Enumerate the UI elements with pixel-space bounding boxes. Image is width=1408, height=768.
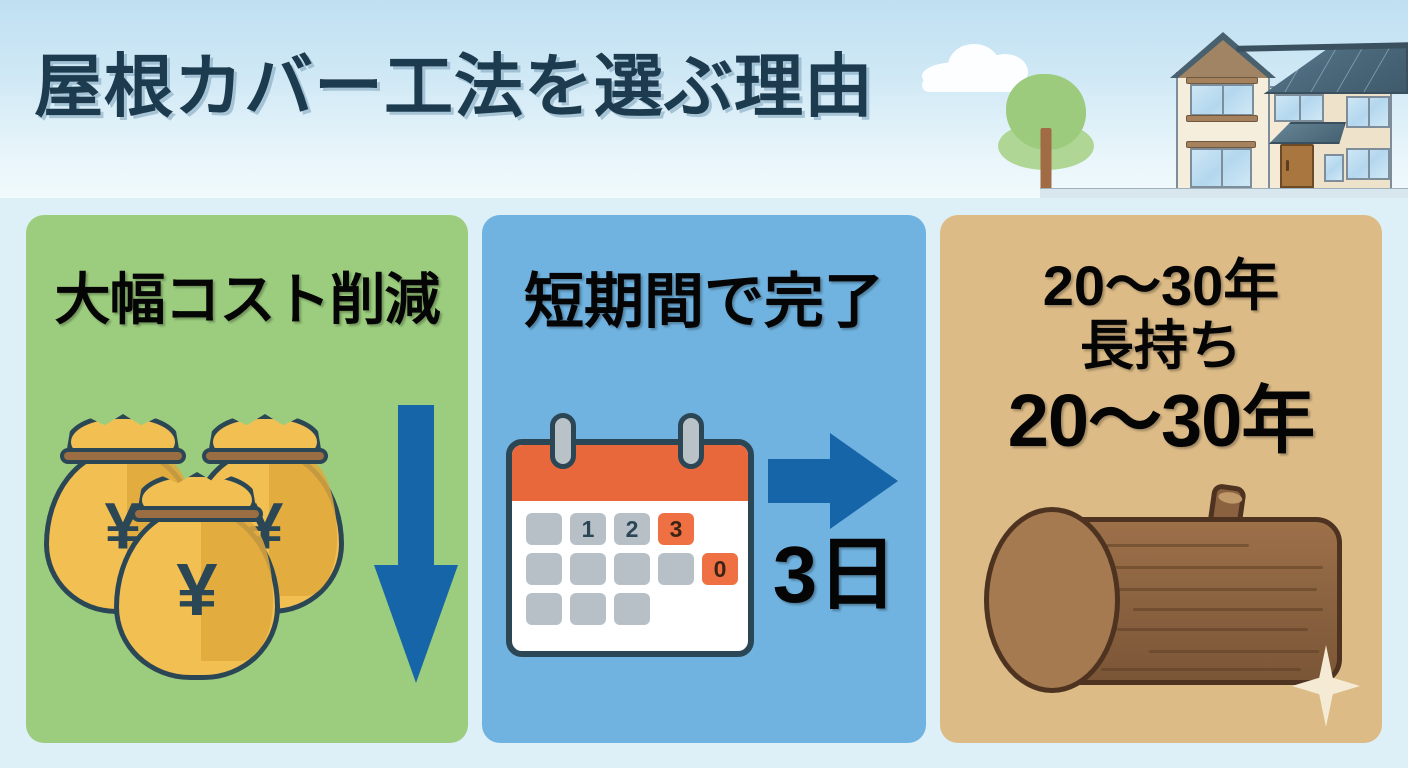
calendar-header — [512, 445, 748, 501]
ground-line — [1040, 188, 1408, 198]
house-window — [1190, 84, 1254, 116]
yen-symbol: ¥ — [114, 560, 280, 619]
calendar-day-highlight: 3 — [658, 513, 694, 545]
header-band: 屋根カバー工法を選ぶ理由 — [0, 0, 1408, 198]
arrow-right-icon — [768, 433, 900, 529]
panel-cost-reduction: 大幅コスト削減 ¥ ¥ ¥ — [26, 215, 468, 743]
arrow-down-icon — [374, 405, 458, 683]
house-window — [1190, 148, 1252, 188]
duration-label: 3日 — [760, 535, 910, 615]
panel-short-duration: 短期間で完了 0 1 2 3 00 00 0 — [482, 215, 926, 743]
house-window-awning — [1186, 141, 1256, 148]
house-window — [1346, 96, 1390, 128]
log-rings-face — [984, 507, 1120, 693]
house-door — [1280, 144, 1314, 188]
panel-longevity: 20〜30年 長持ち 20〜30年 — [940, 215, 1382, 743]
calendar-row: 0 1 2 3 — [526, 513, 746, 545]
house-window — [1346, 148, 1390, 180]
page-title: 屋根カバー工法を選ぶ理由 — [34, 30, 874, 130]
money-bags-icon: ¥ ¥ ¥ — [44, 400, 344, 680]
calendar-row: 00 00 0 — [526, 553, 746, 585]
house-window-sill — [1186, 115, 1258, 122]
panel-life-title-line3: 20〜30年 — [940, 361, 1382, 468]
calendar-grid: 0 1 2 3 00 00 0 000 — [526, 513, 746, 633]
house-window — [1324, 154, 1344, 182]
money-bag-icon: ¥ — [114, 472, 280, 680]
calendar-icon: 0 1 2 3 00 00 0 000 — [506, 413, 754, 657]
calendar-row: 000 — [526, 593, 746, 625]
calendar-ring — [550, 413, 576, 469]
panel-cost-title: 大幅コスト削減 — [26, 255, 468, 336]
wood-log-icon — [984, 507, 1342, 693]
house-window-awning — [1186, 77, 1258, 84]
calendar-day: 1 — [570, 513, 606, 545]
calendar-ring — [678, 413, 704, 469]
house-window — [1274, 94, 1324, 122]
calendar-day: 2 — [614, 513, 650, 545]
house-illustration — [1040, 0, 1408, 198]
infographic-canvas: 屋根カバー工法を選ぶ理由 大幅コスト削減 ¥ ¥ ¥ 短期間で完了 — [0, 0, 1408, 768]
panel-time-title: 短期間で完了 — [482, 253, 926, 340]
